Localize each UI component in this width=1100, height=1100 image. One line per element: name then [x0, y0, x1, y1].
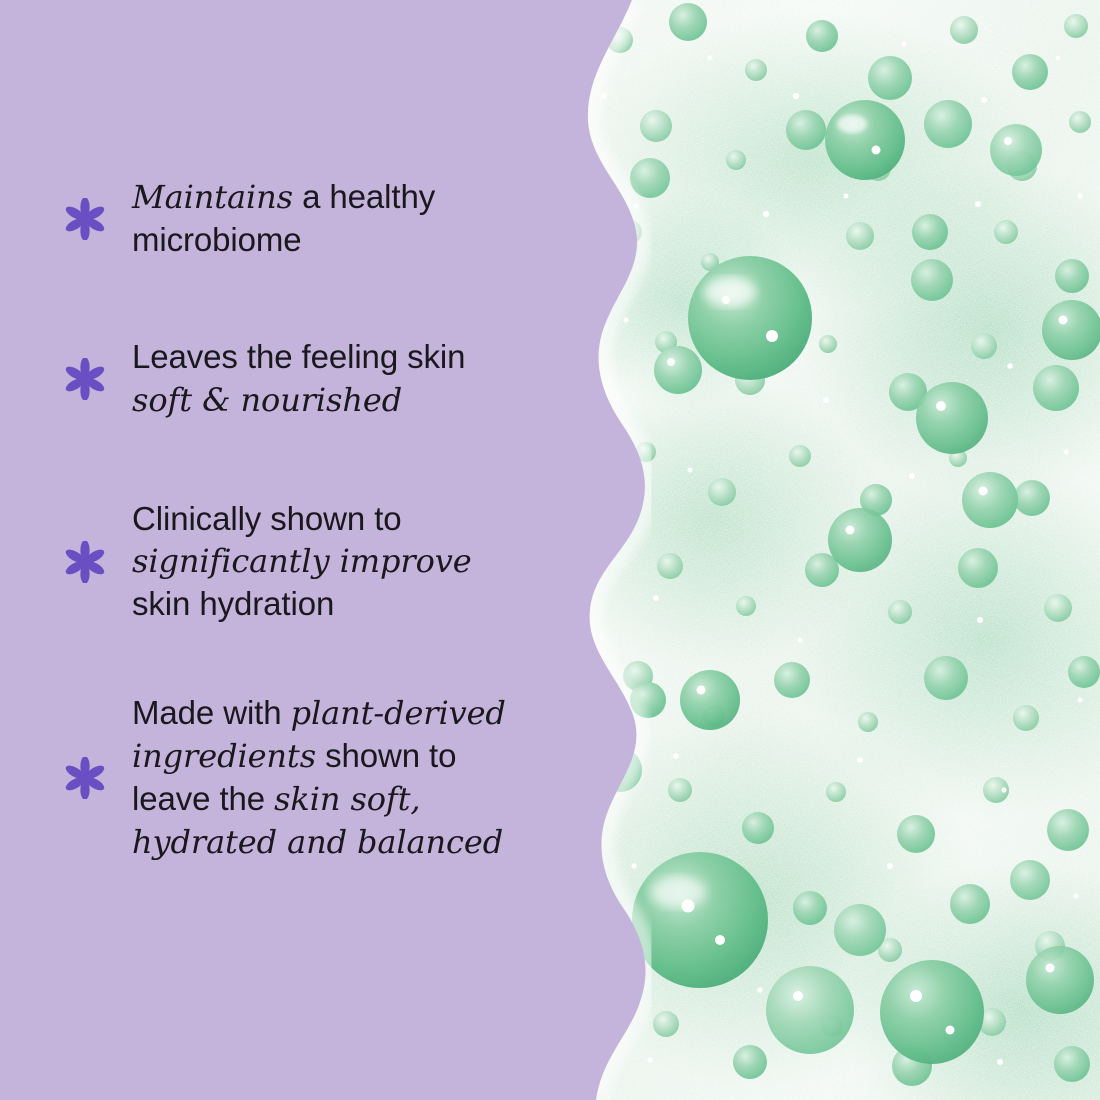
list-item-label: Made with plant-derived ingredients show… [132, 692, 562, 864]
foam-illustration [560, 0, 1100, 1100]
flower-icon [64, 358, 106, 400]
list-item: Maintains a healthy microbiome [0, 176, 580, 262]
flower-icon [64, 198, 106, 240]
list-item-label: Clinically shown to significantly improv… [132, 498, 562, 627]
flower-icon [64, 541, 106, 583]
list-item: Leaves the feeling skin soft & nourished [0, 336, 580, 422]
list-item: Made with plant-derived ingredients show… [0, 692, 580, 864]
list-item-label: Leaves the feeling skin soft & nourished [132, 336, 562, 422]
list-item-label: Maintains a healthy microbiome [132, 176, 562, 262]
product-benefits-graphic: Maintains a healthy microbiome [0, 0, 1100, 1100]
foam-image-panel [560, 0, 1100, 1100]
flower-icon [64, 757, 106, 799]
benefits-list: Maintains a healthy microbiome [0, 0, 580, 1100]
list-item: Clinically shown to significantly improv… [0, 498, 580, 627]
